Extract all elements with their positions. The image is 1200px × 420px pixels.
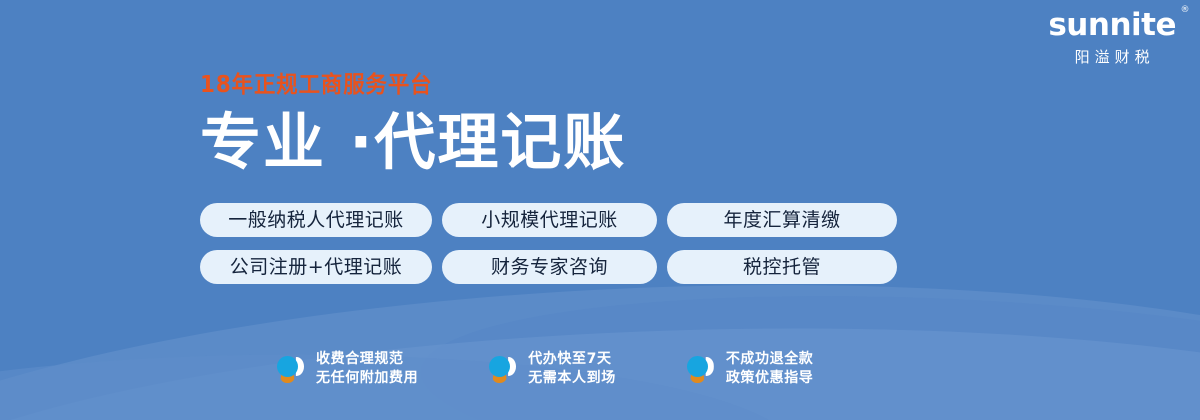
lightbulb-disc-shape (687, 356, 708, 377)
page-title: 专业 ·代理记账 (200, 111, 626, 175)
lightbulb-disc-shape (277, 356, 298, 377)
logo-wordmark: sunnite ® (1048, 10, 1176, 41)
service-pill[interactable]: 公司注册+代理记账 (200, 250, 432, 284)
headline-block: 18年正规工商服务平台 专业 ·代理记账 (200, 74, 626, 175)
feature-text: 收费合理规范 无任何附加费用 (316, 350, 418, 388)
feature-line-2: 无任何附加费用 (316, 369, 418, 388)
brand-logo[interactable]: sunnite ® 阳溢财税 (1048, 10, 1176, 65)
background-sweep-right (416, 271, 1200, 420)
feature-line-2: 政策优惠指导 (726, 369, 814, 388)
service-pill[interactable]: 一般纳税人代理记账 (200, 203, 432, 237)
feature-strip: 收费合理规范 无任何附加费用 代办快至7天 无需本人到场 不成功退全款 (276, 350, 813, 388)
feature-line-2: 无需本人到场 (528, 369, 616, 388)
feature-text: 不成功退全款 政策优惠指导 (726, 350, 814, 388)
lightbulb-icon (276, 353, 306, 385)
feature-line-1: 收费合理规范 (316, 350, 418, 369)
service-pill[interactable]: 年度汇算清缴 (667, 203, 897, 237)
eyebrow-text: 18年正规工商服务平台 (200, 74, 597, 97)
lightbulb-disc-shape (489, 356, 510, 377)
service-pill[interactable]: 小规模代理记账 (442, 203, 657, 237)
service-pill-grid: 一般纳税人代理记账 小规模代理记账 年度汇算清缴 公司注册+代理记账 财务专家咨… (200, 203, 897, 284)
lightbulb-icon (488, 353, 518, 385)
feature-item: 不成功退全款 政策优惠指导 (686, 350, 814, 388)
feature-item: 代办快至7天 无需本人到场 (488, 350, 616, 388)
logo-wordmark-text: sunnite (1048, 7, 1176, 43)
lightbulb-icon (686, 353, 716, 385)
feature-text: 代办快至7天 无需本人到场 (528, 350, 616, 388)
feature-item: 收费合理规范 无任何附加费用 (276, 350, 418, 388)
service-pill[interactable]: 税控托管 (667, 250, 897, 284)
registered-trademark-icon: ® (1181, 6, 1190, 15)
feature-line-1: 代办快至7天 (528, 350, 616, 369)
logo-chinese-name: 阳溢财税 (1048, 50, 1176, 65)
feature-line-1: 不成功退全款 (726, 350, 814, 369)
service-pill[interactable]: 财务专家咨询 (442, 250, 657, 284)
promo-banner: sunnite ® 阳溢财税 18年正规工商服务平台 专业 ·代理记账 一般纳税… (0, 0, 1200, 420)
